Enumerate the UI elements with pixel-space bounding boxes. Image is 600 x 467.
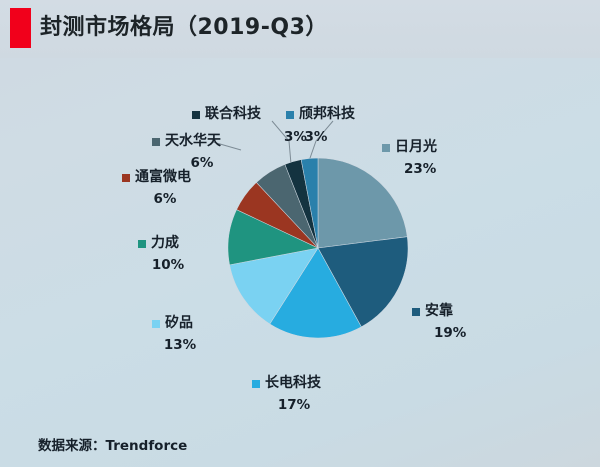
slice-pct-ankao: 19%: [412, 324, 466, 343]
slice-pct-changdian-keji: 17%: [272, 396, 316, 415]
slice-pct-qibang-keji: 3%: [296, 128, 336, 147]
slice-name-tianshui-huatian: 天水华天: [165, 132, 221, 151]
slice-label-qibang-keji: 颀邦科技: [286, 105, 355, 124]
slice-name-tongfu-weidian: 通富微电: [135, 168, 191, 187]
swatch-xipin: [152, 320, 160, 328]
swatch-lianhe-keji: [192, 111, 200, 119]
swatch-qibang-keji: [286, 111, 294, 119]
slide-canvas: 封测市场格局（2019-Q3） 联合科技 3%: [0, 0, 600, 467]
slice-pct-riyueguang: 23%: [382, 160, 436, 179]
slide-header: 封测市场格局（2019-Q3）: [0, 0, 600, 58]
slice-pct-licheng: 10%: [146, 256, 190, 275]
swatch-ankao: [412, 308, 420, 316]
source-note: 数据来源：Trendforce: [38, 434, 187, 454]
slice-name-qibang-keji: 颀邦科技: [299, 105, 355, 124]
slice-label-ankao: 安靠: [412, 302, 453, 321]
pie-svg: [228, 158, 408, 338]
slice-label-riyueguang: 日月光: [382, 138, 437, 157]
slice-pct-xipin: 13%: [158, 336, 202, 355]
swatch-licheng: [138, 240, 146, 248]
slice-label-tianshui-huatian: 天水华天: [152, 132, 221, 151]
slice-label-tongfu-weidian: 通富微电: [122, 168, 191, 187]
slice-name-changdian-keji: 长电科技: [265, 374, 321, 393]
pie-chart: 联合科技 3% 颀邦科技 3% 天水华天 6%: [0, 58, 600, 467]
title-accent-bar: [10, 8, 31, 48]
slice-label-licheng: 力成: [138, 234, 179, 253]
swatch-tongfu-weidian: [122, 174, 130, 182]
slice-name-lianhe-keji: 联合科技: [205, 105, 261, 124]
slice-name-ankao: 安靠: [425, 302, 453, 321]
slice-name-xipin: 矽品: [165, 314, 193, 333]
slice-pct-tongfu-weidian: 6%: [145, 190, 185, 209]
slice-name-licheng: 力成: [151, 234, 179, 253]
slice-label-xipin: 矽品: [152, 314, 193, 333]
slice-label-changdian-keji: 长电科技: [252, 374, 321, 393]
slice-name-riyueguang: 日月光: [395, 138, 437, 157]
slice-label-lianhe-keji: 联合科技: [192, 105, 261, 124]
page-title: 封测市场格局（2019-Q3）: [40, 9, 328, 41]
swatch-tianshui-huatian: [152, 138, 160, 146]
swatch-changdian-keji: [252, 380, 260, 388]
pie-graphic: [228, 158, 408, 338]
swatch-riyueguang: [382, 144, 390, 152]
